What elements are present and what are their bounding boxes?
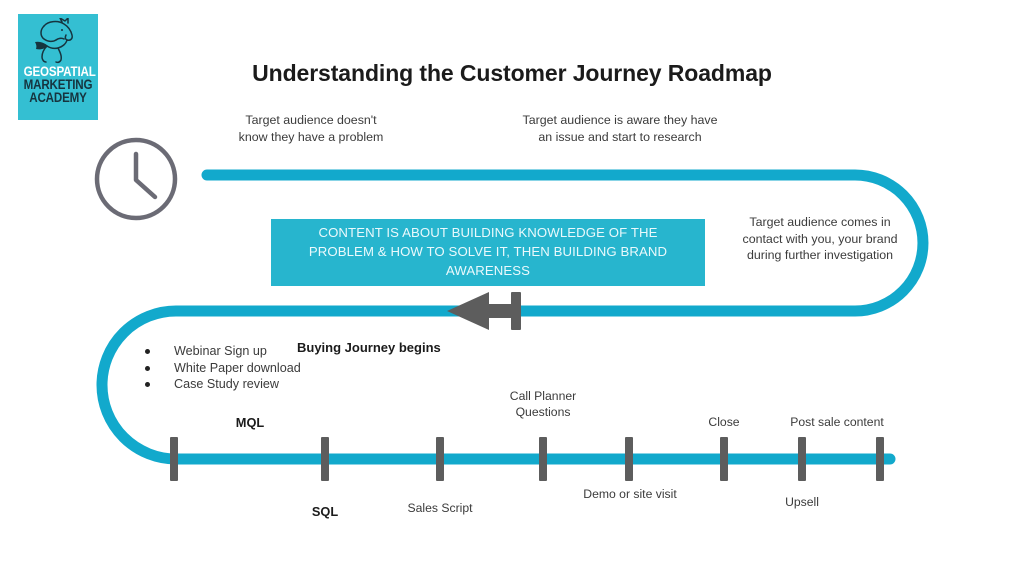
stage-note-research: Target audience is aware they have an is…: [518, 112, 722, 145]
timeline-tick-4: [539, 437, 547, 481]
timeline-tick-8: [876, 437, 884, 481]
logo-line-3: ACADEMY: [24, 91, 93, 104]
timeline-tick-2: [321, 437, 329, 481]
content-strategy-banner: CONTENT IS ABOUT BUILDING KNOWLEDGE OF T…: [271, 219, 705, 286]
clock-icon: [92, 135, 180, 223]
timeline-tick-5: [625, 437, 633, 481]
timeline-tick-3: [436, 437, 444, 481]
stage-note-contact: Target audience comes in contact with yo…: [742, 214, 898, 264]
content-strategy-banner-text: CONTENT IS ABOUT BUILDING KNOWLEDGE OF T…: [285, 224, 691, 280]
arrow-left-with-bar-icon: [447, 292, 529, 330]
horse-icon: [32, 18, 84, 64]
list-item: Case Study review: [142, 376, 322, 393]
list-item: White Paper download: [142, 360, 322, 377]
timeline-label-call-planner: Call Planner Questions: [483, 389, 603, 421]
timeline-label-sales-script: Sales Script: [380, 501, 500, 517]
stage-note-awareness: Target audience doesn't know they have a…: [232, 112, 390, 145]
mql-actions-list: Webinar Sign up White Paper download Cas…: [142, 343, 322, 393]
page-title: Understanding the Customer Journey Roadm…: [0, 60, 1024, 87]
timeline-tick-6: [720, 437, 728, 481]
timeline-tick-7: [798, 437, 806, 481]
timeline-label-sql: SQL: [265, 504, 385, 521]
timeline-label-mql: MQL: [190, 415, 310, 432]
timeline-label-post-sale: Post sale content: [777, 415, 897, 431]
customer-journey-roadmap-slide: GEOSPATIAL MARKETING ACADEMY Understandi…: [0, 0, 1024, 576]
timeline-label-demo: Demo or site visit: [570, 487, 690, 503]
list-item: Webinar Sign up: [142, 343, 322, 360]
timeline-label-upsell: Upsell: [742, 495, 862, 511]
timeline-tick-1: [170, 437, 178, 481]
timeline-label-close: Close: [664, 415, 784, 431]
